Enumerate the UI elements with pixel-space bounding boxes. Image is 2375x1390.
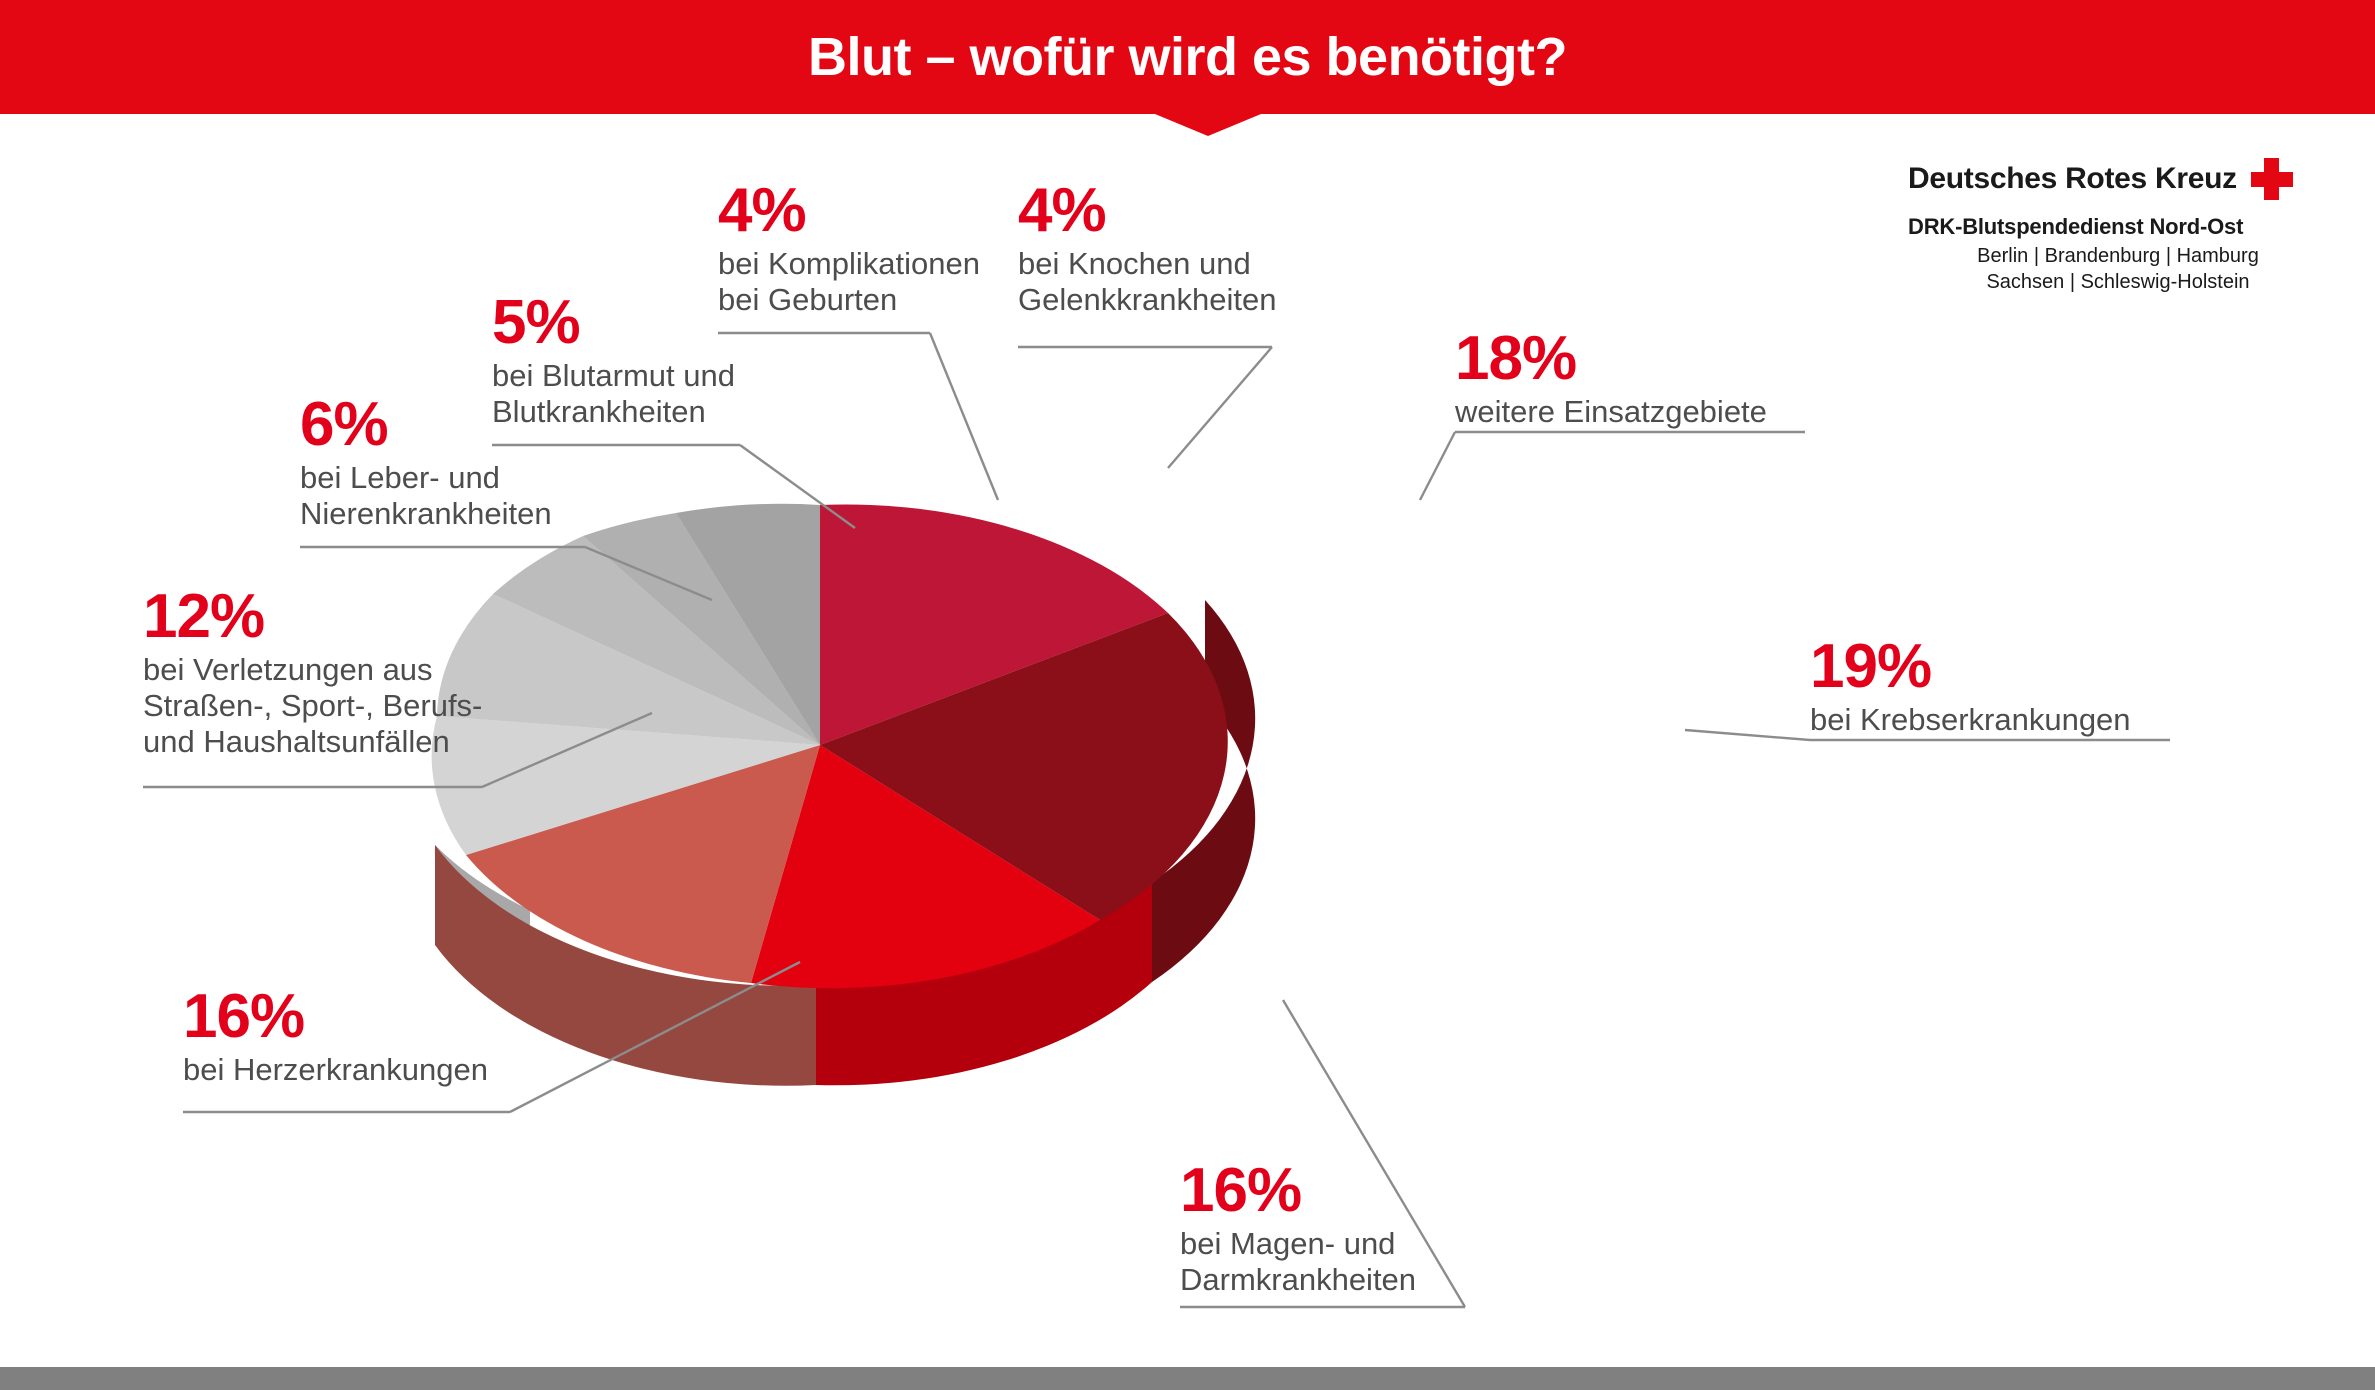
callout-krebs-line1: bei Krebserkrankungen [1810, 702, 2131, 738]
callout-verletzungen-line2: Straßen-, Sport-, Berufs- [143, 688, 482, 724]
callout-leber-pct: 6% [300, 396, 552, 455]
callout-magen-line2: Darmkrankheiten [1180, 1262, 1416, 1298]
callout-magen-desc: bei Magen- und Darmkrankheiten [1180, 1226, 1416, 1298]
callout-krebs-pct: 19% [1810, 638, 2131, 697]
callout-herz-pct: 16% [183, 988, 488, 1047]
callout-weitere-line1: weitere Einsatzgebiete [1455, 394, 1767, 430]
callout-knochen: 4% bei Knochen und Gelenkkrankheiten [1018, 182, 1277, 318]
callout-verletzungen-line3: und Haushaltsunfällen [143, 724, 482, 760]
callout-leber: 6% bei Leber- und Nierenkrankheiten [300, 396, 552, 532]
callout-weitere-desc: weitere Einsatzgebiete [1455, 394, 1767, 430]
footer-bar [0, 1367, 2375, 1390]
callout-knochen-pct: 4% [1018, 182, 1277, 241]
callout-krebs-desc: bei Krebserkrankungen [1810, 702, 2131, 738]
callout-verletzungen-pct: 12% [143, 588, 482, 647]
callout-verletzungen-desc: bei Verletzungen aus Straßen-, Sport-, B… [143, 652, 482, 760]
callout-komplikationen-pct: 4% [718, 182, 980, 241]
callout-komplikationen-line2: bei Geburten [718, 282, 980, 318]
leader-komplikationen-arm [930, 333, 998, 500]
callout-leber-desc: bei Leber- und Nierenkrankheiten [300, 460, 552, 532]
callout-herz-line1: bei Herzerkrankungen [183, 1052, 488, 1088]
callout-leber-line2: Nierenkrankheiten [300, 496, 552, 532]
callout-verletzungen: 12% bei Verletzungen aus Straßen-, Sport… [143, 588, 482, 760]
callout-krebs: 19% bei Krebserkrankungen [1810, 638, 2131, 738]
callout-magen-line1: bei Magen- und [1180, 1226, 1416, 1262]
callout-knochen-line1: bei Knochen und [1018, 246, 1277, 282]
callout-magen: 16% bei Magen- und Darmkrankheiten [1180, 1162, 1416, 1298]
callout-komplikationen-line1: bei Komplikationen [718, 246, 980, 282]
leader-krebs-arm [1685, 730, 1810, 740]
callout-herz-desc: bei Herzerkrankungen [183, 1052, 488, 1088]
callout-komplikationen-desc: bei Komplikationen bei Geburten [718, 246, 980, 318]
callout-verletzungen-line1: bei Verletzungen aus [143, 652, 482, 688]
callout-leber-line1: bei Leber- und [300, 460, 552, 496]
callout-weitere: 18% weitere Einsatzgebiete [1455, 330, 1767, 430]
callout-weitere-pct: 18% [1455, 330, 1767, 389]
callout-knochen-line2: Gelenkkrankheiten [1018, 282, 1277, 318]
callout-blutarmut-pct: 5% [492, 294, 735, 353]
callout-komplikationen: 4% bei Komplikationen bei Geburten [718, 182, 980, 318]
callout-blutarmut-line1: bei Blutarmut und [492, 358, 735, 394]
callout-herz: 16% bei Herzerkrankungen [183, 988, 488, 1088]
leader-knochen-arm [1168, 347, 1272, 468]
callout-magen-pct: 16% [1180, 1162, 1416, 1221]
leader-weitere-arm [1420, 432, 1455, 500]
callout-knochen-desc: bei Knochen und Gelenkkrankheiten [1018, 246, 1277, 318]
